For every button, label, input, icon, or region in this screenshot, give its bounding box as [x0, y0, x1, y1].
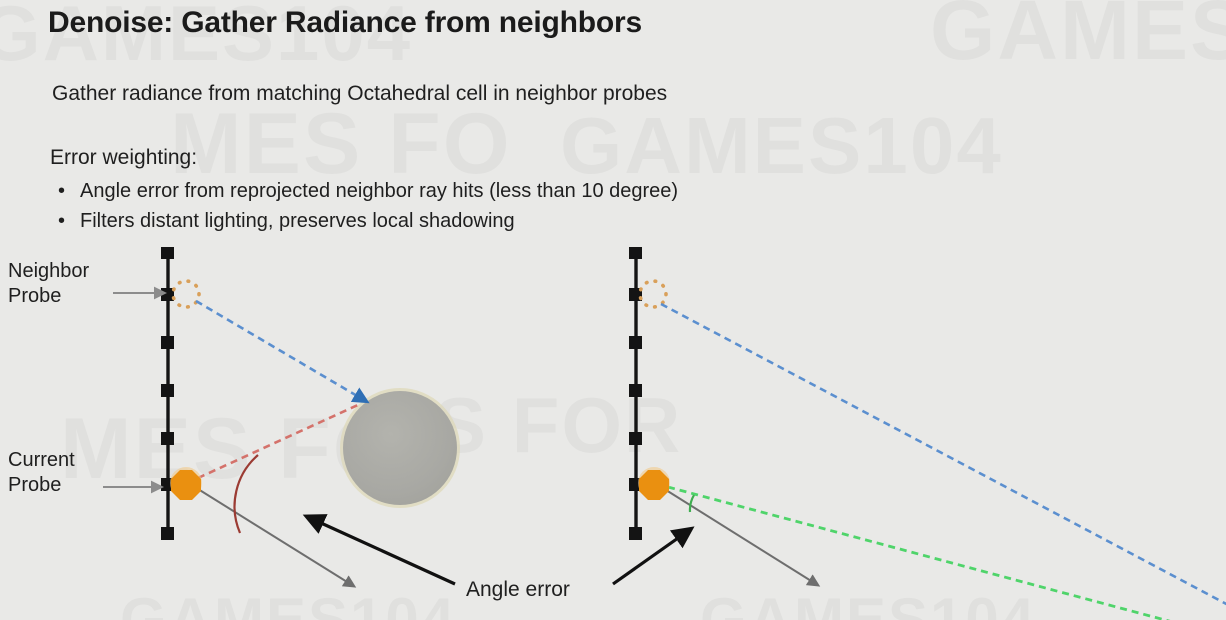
diagram-overlay [0, 0, 1226, 620]
wall-tick [161, 527, 174, 540]
wall-tick [629, 527, 642, 540]
wall-tick [629, 336, 642, 349]
current-normal-ray-gray [666, 490, 816, 584]
neighbor-ray-blue [196, 301, 364, 400]
wall-tick [161, 384, 174, 397]
current-probe-marker [170, 467, 202, 500]
slide-canvas: GAMES104 MES FO GAMES104 GAMES10 MES FO … [0, 0, 1226, 620]
current-probe-marker [638, 467, 670, 500]
neighbor-ray-blue [661, 304, 1226, 607]
left-panel-diagram [161, 247, 460, 585]
left-wall-line [161, 247, 174, 540]
right-panel-diagram [629, 247, 1226, 620]
current-ray-red [198, 404, 360, 478]
current-ray-green [668, 487, 1180, 620]
neighbor-probe-marker [640, 281, 666, 307]
angle-arc-green [690, 495, 694, 512]
wall-tick [161, 432, 174, 445]
wall-tick [161, 247, 174, 259]
angle-error-right-callout-arrow [613, 531, 688, 584]
wall-tick [629, 384, 642, 397]
wall-tick [629, 432, 642, 445]
occluder-sphere [340, 388, 460, 508]
wall-tick [161, 336, 174, 349]
current-normal-ray-gray [198, 489, 352, 585]
angle-arc-red [235, 455, 258, 533]
neighbor-probe-marker [173, 281, 199, 307]
wall-tick [629, 247, 642, 259]
angle-error-left-callout-arrow [310, 518, 455, 584]
